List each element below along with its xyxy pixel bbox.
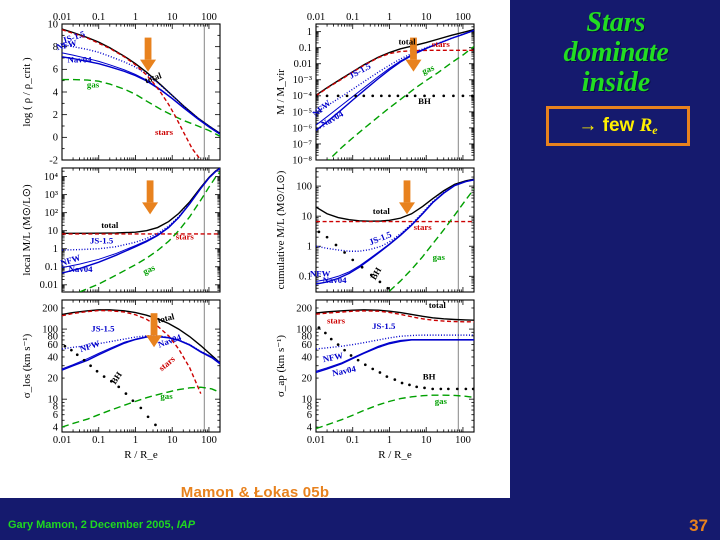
y-tick-label: 40: [302, 352, 313, 363]
x-tick-label: 0.1: [346, 12, 359, 23]
x-tick-label: 100: [455, 435, 471, 446]
highlight-arrow: [140, 38, 156, 72]
data-point-BH: [83, 359, 86, 362]
highlight-arrow: [399, 180, 415, 214]
data-point-BH: [462, 94, 465, 97]
data-point-BH: [125, 392, 128, 395]
highlight-arrow: [142, 180, 158, 214]
plot-frame: [62, 24, 220, 160]
footer-credit: Gary Mamon, 2 December 2005, IAP: [8, 519, 195, 531]
plot-frame: [316, 24, 474, 160]
series-NFW: [316, 180, 474, 282]
data-point-BH: [343, 251, 346, 254]
series-total: [62, 168, 220, 233]
x-tick-label: 10: [421, 435, 432, 446]
data-point-BH: [147, 415, 150, 418]
y-tick-label: 200: [42, 303, 58, 314]
data-point-BH: [371, 94, 374, 97]
y-tick-label: 0.1: [45, 262, 58, 273]
data-point-BH: [452, 94, 455, 97]
series-gas: [316, 395, 474, 428]
headline-line-3: inside: [516, 68, 716, 98]
y-tick-label: 10⁻⁸: [292, 155, 312, 166]
curve-label: gas: [87, 79, 100, 89]
data-point-BH: [330, 338, 333, 341]
y-tick-label: -2: [49, 155, 58, 166]
data-point-BH: [315, 94, 318, 97]
curve-label: JS-1.5: [91, 324, 115, 334]
y-tick-label: 4: [53, 422, 59, 433]
data-point-BH: [318, 231, 321, 234]
multi-panel-figure: 0.010.1110100-20246810log ( ρ / ρ_crit )…: [0, 0, 510, 470]
data-point-BH: [154, 424, 157, 427]
y-tick-label: 0: [53, 133, 58, 144]
curve-label: gas: [435, 396, 448, 406]
plot-panel-sigma-ap: 0.010.11101002001008060402010864σ_ap (km…: [275, 300, 475, 461]
series-JS-1.5: [62, 168, 220, 250]
x-axis-label: R / R_e: [378, 449, 412, 461]
y-axis-label: M / M_vir: [275, 69, 287, 115]
callout-label: few: [603, 115, 635, 136]
y-tick-label: 2: [53, 110, 58, 121]
data-point-BH: [364, 363, 367, 366]
curve-label: Nav04: [69, 264, 94, 274]
data-point-BH: [406, 94, 409, 97]
curve-label: NFW: [55, 38, 78, 53]
y-tick-label: 200: [296, 303, 312, 314]
y-axis-label: σ_ap (km s⁻¹): [275, 335, 287, 397]
curve-label: Nav04: [323, 275, 348, 285]
data-point-BH: [70, 349, 73, 352]
y-tick-label: 60: [48, 340, 59, 351]
figure-caption: Mamon & Łokas 05b: [0, 484, 510, 501]
y-tick-label: 10: [302, 212, 313, 223]
y-tick-label: 20: [302, 373, 313, 384]
curve-label: total: [429, 300, 447, 310]
series-Nav04: [62, 168, 220, 273]
data-point-BH: [379, 281, 382, 284]
data-point-BH: [447, 388, 450, 391]
y-tick-label: 60: [302, 340, 313, 351]
curve-label: stars: [327, 316, 346, 326]
x-tick-label: 10: [167, 12, 178, 23]
data-point-BH: [139, 407, 142, 410]
series-stars: [62, 30, 201, 160]
y-tick-label: 4: [53, 87, 59, 98]
series-gas: [62, 80, 220, 137]
data-point-BH: [388, 94, 391, 97]
curve-label: gas: [420, 62, 436, 76]
y-tick-label: 10: [48, 226, 59, 237]
callout-text: → few Re: [578, 115, 657, 138]
curve-label: NFW: [78, 338, 101, 354]
headline-line-1: Stars: [516, 8, 716, 38]
curve-label: Nav04: [68, 55, 93, 65]
plot-panel-mass: 0.010.111010010.10.0110⁻³10⁻⁴10⁻⁵10⁻⁶10⁻…: [275, 12, 474, 171]
data-point-BH: [326, 94, 329, 97]
x-tick-label: 1: [133, 12, 138, 23]
callout-box: → few Re: [546, 106, 690, 146]
figure-panel: 0.010.1110100-20246810log ( ρ / ρ_crit )…: [0, 0, 510, 498]
y-tick-label: 1: [307, 27, 312, 38]
data-point-BH: [439, 388, 442, 391]
data-point-BH: [380, 94, 383, 97]
data-point-BH: [362, 94, 365, 97]
headline-line-2: dominate: [516, 38, 716, 68]
x-tick-label: 0.01: [53, 435, 71, 446]
x-tick-label: 100: [455, 12, 471, 23]
data-point-BH: [132, 399, 135, 402]
curve-label: BH: [368, 265, 383, 281]
y-tick-label: 6: [53, 410, 58, 421]
curve-label: total: [156, 311, 176, 325]
y-axis-label: local M/L (M⊙/L⊙): [21, 184, 33, 276]
footer-author: Gary Mamon, 2 December 2005,: [8, 519, 177, 531]
data-point-BH: [397, 94, 400, 97]
y-tick-label: 10³: [44, 190, 58, 201]
x-tick-label: 100: [201, 435, 217, 446]
y-tick-label: 0.01: [294, 59, 312, 70]
data-point-BH: [465, 388, 468, 391]
y-axis-label: cumulative M/L (M⊙/L⊙): [275, 170, 287, 289]
slide-root: 0.010.1110100-20246810log ( ρ / ρ_crit )…: [0, 0, 720, 540]
y-tick-label: 1: [307, 242, 312, 253]
y-tick-label: 10⁻⁵: [292, 107, 312, 118]
y-axis-label: σ_los (km s⁻¹): [21, 333, 33, 398]
y-tick-label: 10²: [44, 208, 58, 219]
callout-arrow-icon: →: [578, 115, 597, 136]
data-point-BH: [117, 385, 120, 388]
plot-panel-cumulative-ml: 1001010.1cumulative M/L (M⊙/L⊙)totalstar…: [275, 168, 474, 292]
data-point-BH: [456, 388, 459, 391]
plot-panel-local-ml: 10⁴10³10²1010.10.01local M/L (M⊙/L⊙)tota…: [21, 168, 220, 292]
x-tick-label: 0.1: [346, 435, 359, 446]
data-point-BH: [337, 94, 340, 97]
data-point-BH: [386, 375, 389, 378]
data-point-BH: [76, 353, 79, 356]
data-point-BH: [414, 94, 417, 97]
data-point-BH: [103, 375, 106, 378]
data-point-BH: [401, 382, 404, 385]
y-tick-label: 20: [48, 373, 59, 384]
curve-label: stars: [155, 127, 174, 137]
series-Nav04: [316, 180, 474, 284]
series-NFW: [62, 53, 220, 134]
data-point-BH: [318, 326, 321, 329]
series-total: [62, 310, 220, 363]
curve-label: total: [398, 36, 416, 46]
curve-label: gas: [160, 391, 173, 401]
headline-text: Stars dominate inside: [516, 8, 716, 99]
y-tick-label: 4: [307, 422, 313, 433]
callout-symbol: R: [640, 115, 653, 136]
x-tick-label: 10: [421, 12, 432, 23]
curve-label: JS-1.5: [90, 236, 114, 246]
y-tick-label: 6: [307, 410, 312, 421]
x-tick-label: 1: [133, 435, 138, 446]
data-point-BH: [324, 332, 327, 335]
data-point-BH: [371, 368, 374, 371]
plot-panel-density: 0.010.1110100-20246810log ( ρ / ρ_crit )…: [21, 12, 220, 166]
curve-label: BH: [418, 96, 431, 106]
data-point-BH: [361, 266, 364, 269]
data-point-BH: [415, 385, 418, 388]
curve-label: stars: [157, 353, 178, 373]
curve-label: stars: [432, 39, 451, 49]
plot-frame: [62, 300, 220, 432]
curve-label: gas: [141, 262, 157, 276]
x-tick-label: 0.1: [92, 12, 105, 23]
series-stars: [316, 50, 474, 96]
data-point-BH: [379, 371, 382, 374]
x-axis-label: R / R_e: [124, 449, 158, 461]
y-tick-label: 10⁻⁶: [292, 123, 312, 134]
data-point-BH: [346, 94, 349, 97]
data-point-BH: [335, 244, 338, 247]
x-tick-label: 100: [201, 12, 217, 23]
curve-label: Nav04: [157, 332, 183, 350]
data-point-BH: [351, 259, 354, 262]
x-tick-label: 0.01: [307, 435, 325, 446]
curve-label: stars: [176, 232, 195, 242]
data-point-BH: [343, 349, 346, 352]
callout-subscript: e: [652, 123, 657, 137]
data-point-BH: [350, 354, 353, 357]
data-point-BH: [423, 387, 426, 390]
y-tick-label: 100: [296, 181, 312, 192]
series-NFW: [62, 168, 220, 267]
curve-label: NFW: [322, 350, 344, 364]
curve-label: total: [373, 206, 391, 216]
data-point-BH: [354, 94, 357, 97]
y-tick-label: 6: [53, 65, 58, 76]
slide-footer: Gary Mamon, 2 December 2005, IAP 37: [0, 514, 720, 540]
x-tick-label: 1: [387, 12, 392, 23]
y-tick-label: 0.01: [40, 280, 58, 291]
x-tick-label: 0.01: [307, 12, 325, 23]
data-point-BH: [393, 378, 396, 381]
data-point-BH: [357, 359, 360, 362]
curve-label: JS-1.5: [372, 321, 396, 331]
curve-label: JS-1.5: [347, 61, 373, 81]
page-number: 37: [689, 516, 708, 536]
x-tick-label: 10: [167, 435, 178, 446]
data-point-BH: [432, 94, 435, 97]
data-point-BH: [337, 343, 340, 346]
data-point-BH: [431, 388, 434, 391]
x-tick-label: 0.1: [92, 435, 105, 446]
y-tick-label: 40: [48, 352, 59, 363]
series-JS-1.5: [316, 30, 474, 112]
y-tick-label: 1: [53, 244, 58, 255]
x-tick-label: 1: [387, 435, 392, 446]
y-tick-label: 10: [48, 19, 59, 30]
footer-venue: IAP: [177, 519, 195, 531]
y-tick-label: 10⁴: [44, 172, 59, 183]
data-point-BH: [64, 345, 67, 348]
data-point-BH: [442, 94, 445, 97]
y-tick-label: 10⁻³: [293, 75, 312, 86]
y-tick-label: 10⁻⁴: [292, 91, 312, 102]
curve-label: gas: [433, 252, 446, 262]
data-point-BH: [408, 384, 411, 387]
curve-label: BH: [109, 370, 125, 386]
data-point-BH: [96, 370, 99, 373]
series-total: [316, 179, 474, 221]
data-point-BH: [386, 287, 389, 290]
y-axis-label: log ( ρ / ρ_crit ): [21, 57, 33, 127]
curve-label: BH: [423, 372, 436, 382]
data-point-BH: [89, 364, 92, 367]
plot-panel-sigma-los: 0.010.11101002001008060402010864σ_los (k…: [21, 300, 220, 461]
curve-label: total: [101, 220, 119, 230]
y-tick-label: 10⁻⁷: [292, 139, 312, 150]
data-point-BH: [326, 236, 329, 239]
curve-label: stars: [414, 222, 433, 232]
data-point-BH: [471, 94, 474, 97]
y-tick-label: 0.1: [299, 43, 312, 54]
